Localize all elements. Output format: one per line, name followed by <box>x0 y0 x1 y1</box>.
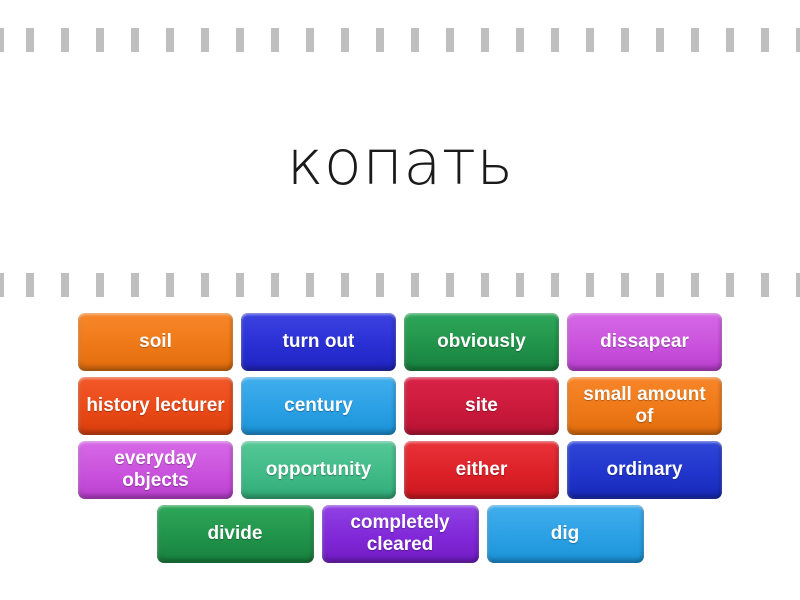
answer-tile-divide[interactable]: divide <box>157 505 314 563</box>
answer-tile-small-amount-of[interactable]: small amount of <box>567 377 722 435</box>
answer-tile-dissapear[interactable]: dissapear <box>567 313 722 371</box>
answer-tile-label: dig <box>551 523 580 545</box>
answer-tile-label: site <box>465 395 498 417</box>
answer-tile-label: everyday objects <box>84 448 227 492</box>
answer-tile-label: small amount of <box>573 384 716 428</box>
answer-tile-label: opportunity <box>266 459 372 481</box>
answer-tile-obviously[interactable]: obviously <box>404 313 559 371</box>
dashed-rule-top <box>0 28 800 52</box>
answer-tile-turn-out[interactable]: turn out <box>241 313 396 371</box>
answer-tile-grid: soil turn out obviously dissapear histor… <box>0 313 800 569</box>
answer-tile-label: completely cleared <box>328 512 473 556</box>
dashed-rule-bottom <box>0 273 800 297</box>
answer-tile-label: history lecturer <box>86 395 224 417</box>
answer-tile-ordinary[interactable]: ordinary <box>567 441 722 499</box>
answer-tile-label: ordinary <box>606 459 682 481</box>
answer-tile-label: century <box>284 395 353 417</box>
answer-tile-label: soil <box>139 331 172 353</box>
answer-tile-soil[interactable]: soil <box>78 313 233 371</box>
answer-tile-completely-cleared[interactable]: completely cleared <box>322 505 479 563</box>
flashcard-activity-page: копать soil turn out obviously dissapear… <box>0 0 800 600</box>
answer-tile-label: either <box>456 459 508 481</box>
answer-tile-row: soil turn out obviously dissapear <box>0 313 800 371</box>
answer-tile-row: everyday objects opportunity either ordi… <box>0 441 800 499</box>
answer-tile-everyday-objects[interactable]: everyday objects <box>78 441 233 499</box>
answer-tile-row: divide completely cleared dig <box>0 505 800 563</box>
answer-tile-dig[interactable]: dig <box>487 505 644 563</box>
answer-tile-either[interactable]: either <box>404 441 559 499</box>
prompt-word: копать <box>287 132 514 194</box>
answer-tile-label: divide <box>208 523 263 545</box>
answer-tile-opportunity[interactable]: opportunity <box>241 441 396 499</box>
answer-tile-label: obviously <box>437 331 526 353</box>
answer-tile-century[interactable]: century <box>241 377 396 435</box>
answer-tile-site[interactable]: site <box>404 377 559 435</box>
prompt-area: копать <box>0 52 800 273</box>
answer-tile-row: history lecturer century site small amou… <box>0 377 800 435</box>
answer-tile-history-lecturer[interactable]: history lecturer <box>78 377 233 435</box>
answer-tile-label: dissapear <box>600 331 689 353</box>
answer-tile-label: turn out <box>283 331 355 353</box>
